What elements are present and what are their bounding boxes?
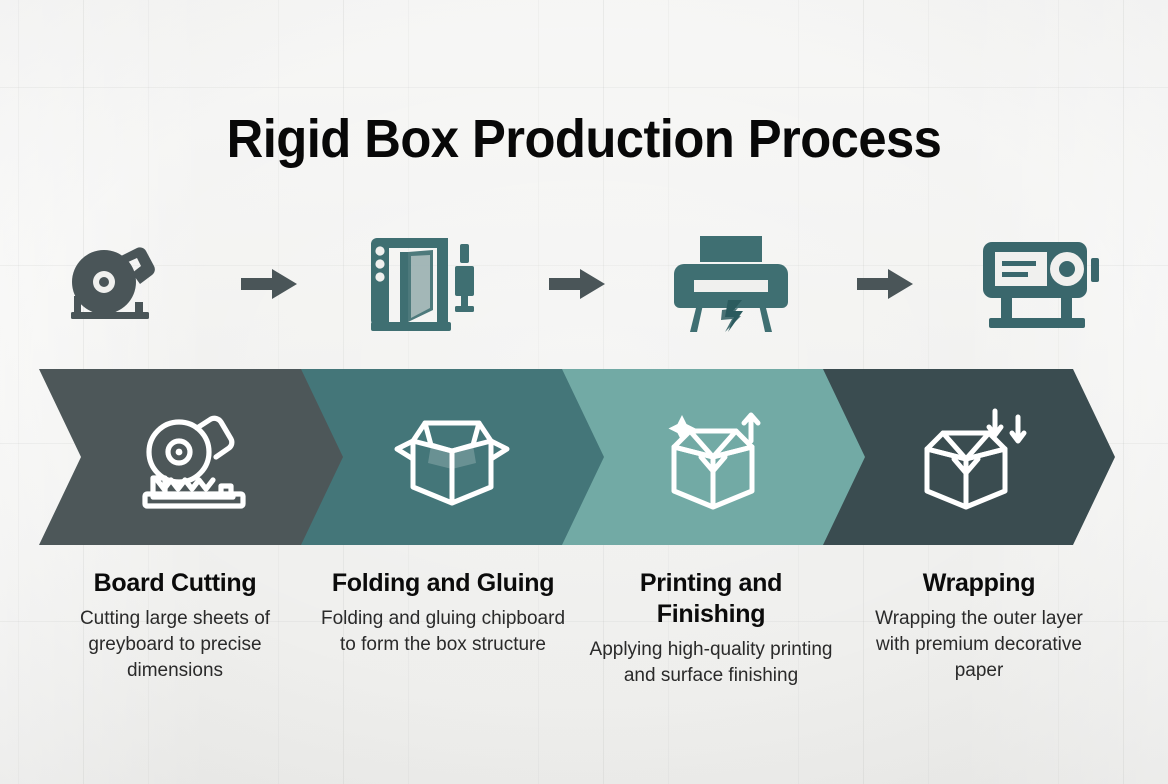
step-description-4: Wrapping the outer layer with premium de…: [857, 606, 1101, 684]
arrow-right-icon-3: [842, 232, 928, 336]
step-title-3: Printing and Finishing: [589, 568, 833, 630]
sparkle-box-glyph: [650, 401, 776, 513]
step-caption-4: Wrapping Wrapping the outer layer with p…: [845, 568, 1113, 728]
step-title-4: Wrapping: [857, 568, 1101, 599]
step-caption-3: Printing and Finishing Applying high-qua…: [577, 568, 845, 728]
step-title-1: Board Cutting: [53, 568, 297, 599]
wrapping-machine-icon: [965, 232, 1113, 336]
chevron-step-1[interactable]: [39, 369, 343, 545]
printer-machine-icon: [657, 232, 805, 336]
page-title: Rigid Box Production Process: [35, 108, 1133, 170]
step-description-3: Applying high-quality printing and surfa…: [589, 637, 833, 689]
process-chevron-band: [39, 369, 1115, 545]
circular-saw-machine-icon: [41, 232, 189, 336]
step-caption-1: Board Cutting Cutting large sheets of gr…: [41, 568, 309, 728]
folding-gluing-press-icon: [349, 232, 497, 336]
arrow-right-icon-2: [534, 232, 620, 336]
wrapped-box-glyph: [906, 401, 1032, 513]
circular-saw-glyph: [129, 402, 253, 512]
chevron-step-2[interactable]: [300, 369, 604, 545]
open-box-glyph: [391, 403, 513, 511]
machine-icon-row: [41, 232, 1113, 336]
chevron-step-4[interactable]: [822, 369, 1115, 545]
step-title-2: Folding and Gluing: [321, 568, 565, 599]
infographic-canvas: Rigid Box Production Process: [0, 0, 1168, 784]
step-description-2: Folding and gluing chipboard to form the…: [321, 606, 565, 658]
chevron-step-3[interactable]: [561, 369, 865, 545]
step-description-1: Cutting large sheets of greyboard to pre…: [53, 606, 297, 684]
step-caption-2: Folding and Gluing Folding and gluing ch…: [309, 568, 577, 728]
arrow-right-icon-1: [226, 232, 312, 336]
step-captions: Board Cutting Cutting large sheets of gr…: [41, 568, 1113, 728]
